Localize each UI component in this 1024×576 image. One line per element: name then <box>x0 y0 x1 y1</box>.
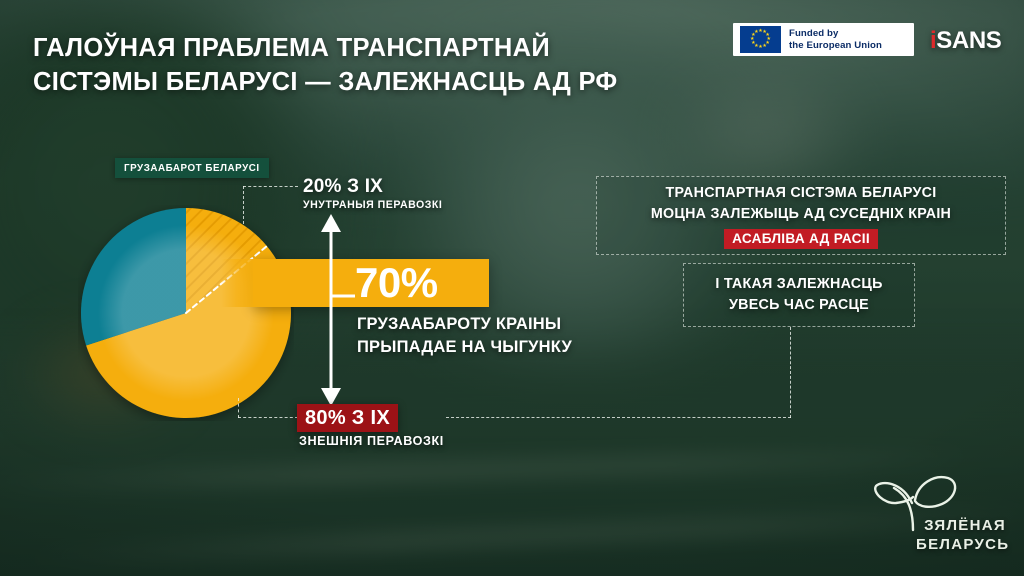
callout-20-caption: УНУТРАНЫЯ ПЕРАВОЗКІ <box>303 198 513 213</box>
callout-70-value: 70% <box>355 258 491 308</box>
isans-logo: iSANS <box>930 27 1001 55</box>
callout-80-value: 80% З ІХ <box>297 404 398 432</box>
callout-20-value: 20% З ІХ <box>303 175 513 198</box>
info-panel-primary-highlight: АСАБЛІВА АД РАСІІ <box>724 229 878 249</box>
infographic-root: ГАЛОЎНАЯ ПРАБЛЕМА ТРАНСПАРТНАЙ СІСТЭМЫ Б… <box>0 0 1024 576</box>
green-belarus-line-2: БЕЛАРУСЬ <box>916 535 1006 554</box>
pie-glow <box>64 191 308 435</box>
eu-funding-text: Funded by the European Union <box>789 28 882 51</box>
title-line-2: СІСТЭМЫ БЕЛАРУСІ — ЗАЛЕЖНАСЦЬ АД РФ <box>33 65 633 99</box>
pie-chart <box>78 205 294 421</box>
callout-70-caption-line-1: ГРУЗААБАРОТУ КРАІНЫ <box>357 313 657 336</box>
callout-20: 20% З ІХ УНУТРАНЫЯ ПЕРАВОЗКІ <box>303 175 513 213</box>
info-panel-primary-line-1: ТРАНСПАРТНАЯ СІСТЭМА БЕЛАРУСІ <box>666 183 937 204</box>
page-title: ГАЛОЎНАЯ ПРАБЛЕМА ТРАНСПАРТНАЙ СІСТЭМЫ Б… <box>33 31 633 99</box>
green-belarus-line-1: ЗЯЛЁНАЯ <box>916 516 1006 535</box>
callout-80-caption: ЗНЕШНІЯ ПЕРАВОЗКІ <box>299 434 444 448</box>
info-panel-secondary-line-1: І ТАКАЯ ЗАЛЕЖНАСЦЬ <box>715 274 882 295</box>
chart-title-label: ГРУЗААБАРОТ БЕЛАРУСІ <box>124 163 260 174</box>
isans-logo-name: SANS <box>936 27 1001 54</box>
callout-70-caption: ГРУЗААБАРОТУ КРАІНЫ ПРЫПАДАЕ НА ЧЫГУНКУ <box>357 313 657 359</box>
info-panel-secondary-line-2: УВЕСЬ ЧАС РАСЦЕ <box>729 295 869 316</box>
info-panel-primary: ТРАНСПАРТНАЯ СІСТЭМА БЕЛАРУСІ МОЦНА ЗАЛЕ… <box>596 176 1006 255</box>
chart-title-badge: ГРУЗААБАРОТ БЕЛАРУСІ <box>115 158 269 178</box>
eu-funding-line-1: Funded by <box>789 28 882 39</box>
title-line-1: ГАЛОЎНАЯ ПРАБЛЕМА ТРАНСПАРТНАЙ <box>33 31 633 65</box>
info-panel-secondary: І ТАКАЯ ЗАЛЕЖНАСЦЬ УВЕСЬ ЧАС РАСЦЕ <box>683 263 915 327</box>
green-belarus-wordmark: ЗЯЛЁНАЯ БЕЛАРУСЬ <box>916 516 1006 554</box>
eu-flag-icon: ★★★★★★★★★★★★ <box>740 26 781 53</box>
green-belarus-logo: ЗЯЛЁНАЯ БЕЛАРУСЬ <box>872 470 1004 558</box>
info-panel-primary-line-2: МОЦНА ЗАЛЕЖЫЦЬ АД СУСЕДНІХ КРАІН <box>651 204 951 225</box>
eu-funding-badge: ★★★★★★★★★★★★ Funded by the European Unio… <box>733 23 914 56</box>
callout-70-caption-line-2: ПРЫПАДАЕ НА ЧЫГУНКУ <box>357 336 657 359</box>
eu-funding-line-2: the European Union <box>789 40 882 51</box>
